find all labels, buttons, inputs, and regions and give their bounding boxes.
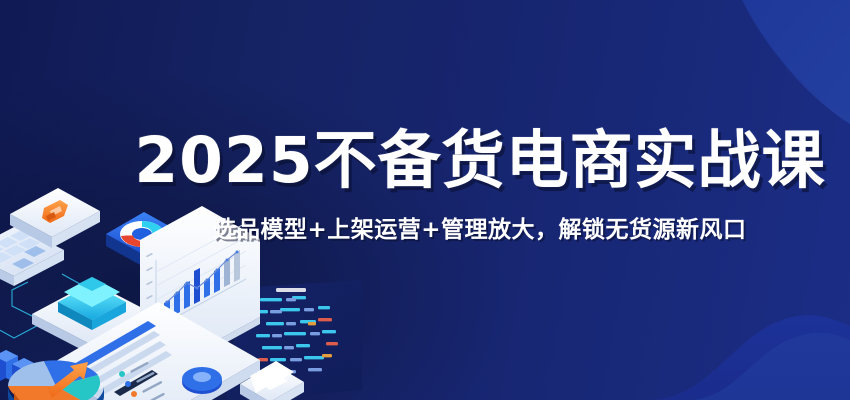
course-promo-banner: 2025不备货电商实战课 选品模型+上架运营+管理放大，解锁无货源新风口 xyxy=(0,0,850,400)
headline-block: 2025不备货电商实战课 选品模型+上架运营+管理放大，解锁无货源新风口 xyxy=(130,128,830,244)
banner-subtitle: 选品模型+上架运营+管理放大，解锁无货源新风口 xyxy=(130,210,830,244)
banner-title: 2025不备货电商实战课 xyxy=(130,128,830,194)
circular-blue-button xyxy=(182,367,222,394)
